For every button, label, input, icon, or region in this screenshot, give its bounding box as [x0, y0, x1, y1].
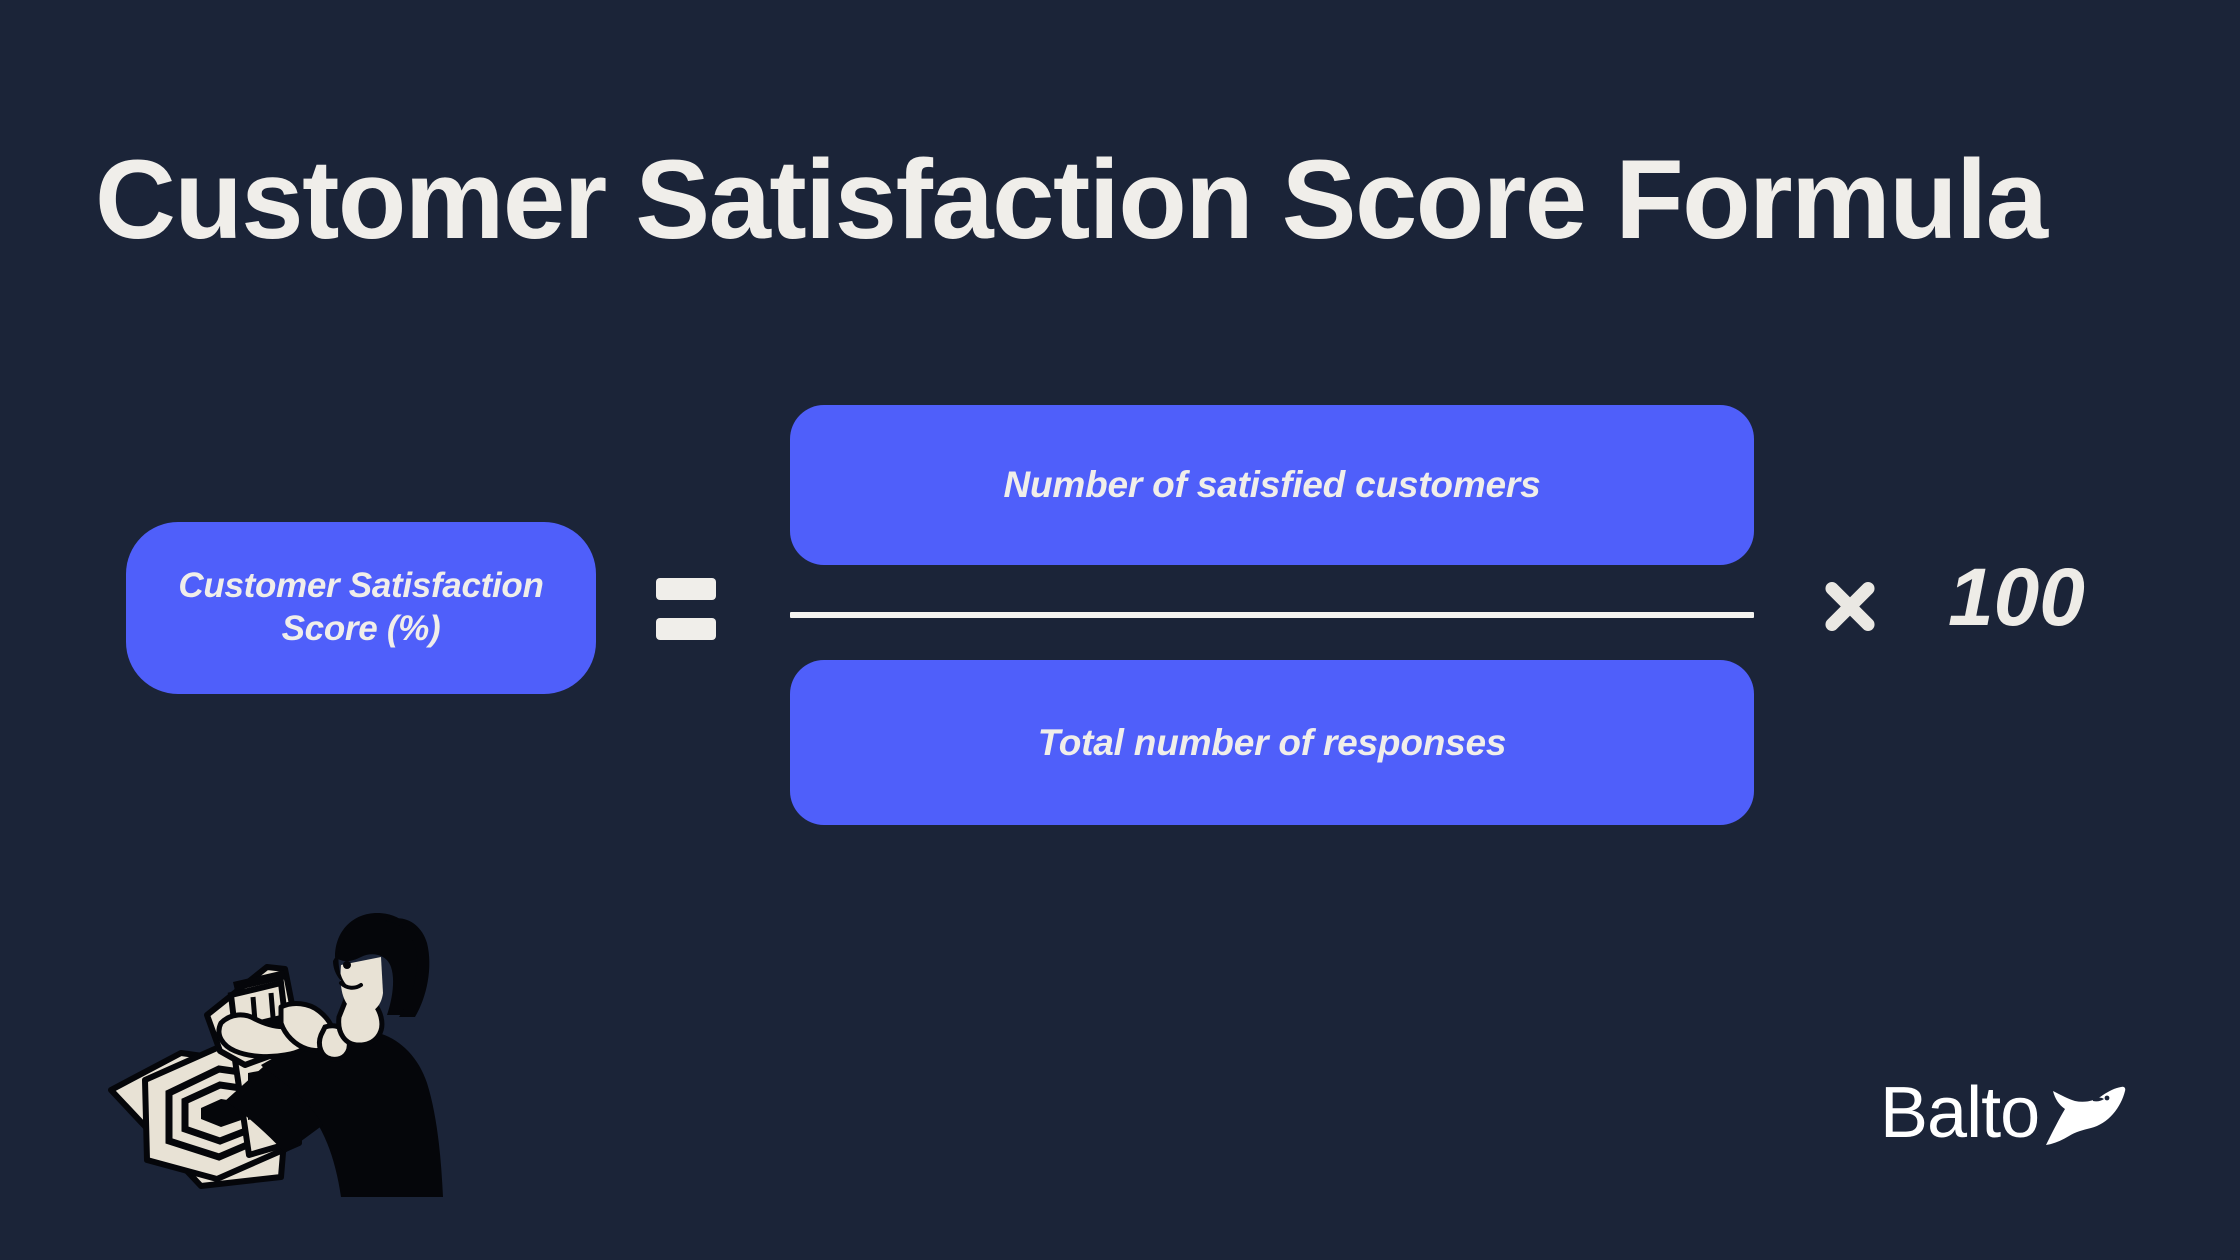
result-pill-label: Customer Satisfaction Score (%): [148, 565, 574, 650]
balto-logo: Balto: [1880, 1070, 2158, 1156]
equals-bar-top: [656, 578, 716, 600]
result-pill: Customer Satisfaction Score (%): [126, 522, 596, 694]
numerator-pill: Number of satisfied customers: [790, 405, 1754, 565]
formula-diagram: Customer Satisfaction Score (%) Number o…: [0, 390, 2240, 850]
denominator-pill: Total number of responses: [790, 660, 1754, 825]
equals-bar-bottom: [656, 618, 716, 640]
person-reading-newspaper-illustration: [85, 905, 485, 1210]
wolf-head-icon: [2041, 1083, 2127, 1149]
page-title: Customer Satisfaction Score Formula: [95, 137, 2155, 262]
equals-icon: [656, 578, 716, 640]
fraction-bar: [790, 612, 1754, 618]
numerator-label: Number of satisfied customers: [1003, 464, 1540, 506]
balto-wordmark: Balto: [1880, 1077, 2039, 1149]
denominator-label: Total number of responses: [1038, 722, 1507, 764]
multiply-icon: [1822, 578, 1878, 634]
fraction: Number of satisfied customers Total numb…: [790, 390, 1754, 830]
multiplier-value: 100: [1948, 557, 2085, 639]
